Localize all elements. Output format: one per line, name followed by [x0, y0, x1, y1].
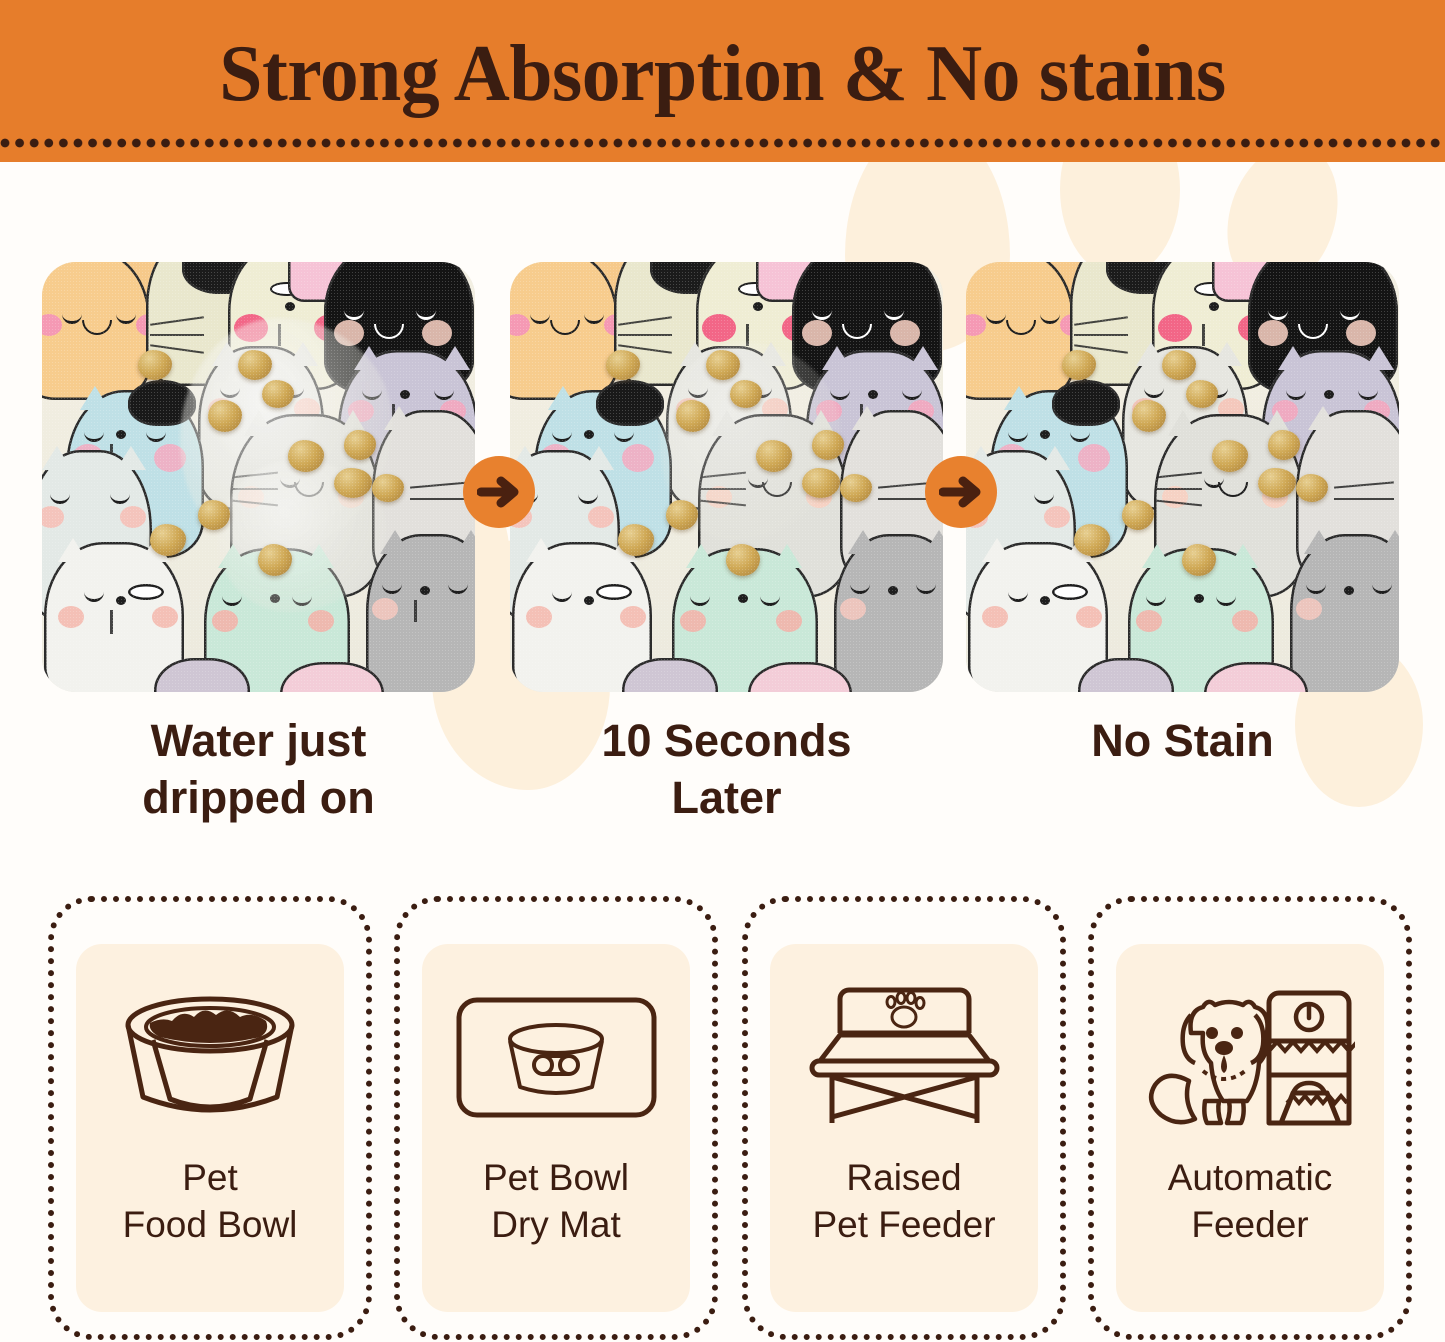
cat-pattern-mat — [966, 262, 1399, 692]
kibble-piece — [1122, 500, 1154, 530]
feature-card-pet-food-bowl[interactable]: Pet Food Bowl — [48, 896, 372, 1340]
demo-photo-no-stain — [966, 262, 1399, 692]
cat-pattern-mat — [510, 262, 943, 692]
kibble-piece — [666, 500, 698, 530]
demo-caption-2: 10 Seconds Later — [510, 712, 943, 826]
page-title: Strong Absorption & No stains — [22, 26, 1424, 122]
paw-toe-icon — [1060, 162, 1180, 277]
feature-label: Raised Pet Feeder — [770, 1154, 1038, 1248]
feature-card-automatic-feeder[interactable]: Automatic Feeder — [1088, 896, 1412, 1340]
feature-card-row: Pet Food Bowl Pet Bowl Dry Mat — [0, 896, 1445, 1336]
demo-photo-10-seconds-later — [510, 262, 943, 692]
automatic-feeder-icon — [1145, 982, 1355, 1132]
raised-pet-feeder-icon — [799, 982, 1009, 1132]
feature-label: Pet Bowl Dry Mat — [422, 1154, 690, 1248]
demo-caption-3: No Stain — [966, 712, 1399, 769]
arrow-right-icon — [463, 456, 535, 528]
cat-pattern-mat — [42, 262, 475, 692]
feature-label: Automatic Feeder — [1116, 1154, 1384, 1248]
header-banner: Strong Absorption & No stains — [0, 0, 1445, 162]
kibble-piece — [198, 500, 230, 530]
feature-label: Pet Food Bowl — [76, 1154, 344, 1248]
demo-caption-1: Water just dripped on — [42, 712, 475, 826]
feature-card-pet-bowl-dry-mat[interactable]: Pet Bowl Dry Mat — [394, 896, 718, 1340]
pet-bowl-dry-mat-icon — [451, 982, 661, 1132]
pet-food-bowl-icon — [105, 982, 315, 1132]
feature-card-raised-pet-feeder[interactable]: Raised Pet Feeder — [742, 896, 1066, 1340]
demo-photo-water-dripped — [42, 262, 475, 692]
header-dotted-divider — [0, 138, 1445, 148]
absorption-demo-row — [0, 262, 1445, 692]
arrow-right-icon — [925, 456, 997, 528]
